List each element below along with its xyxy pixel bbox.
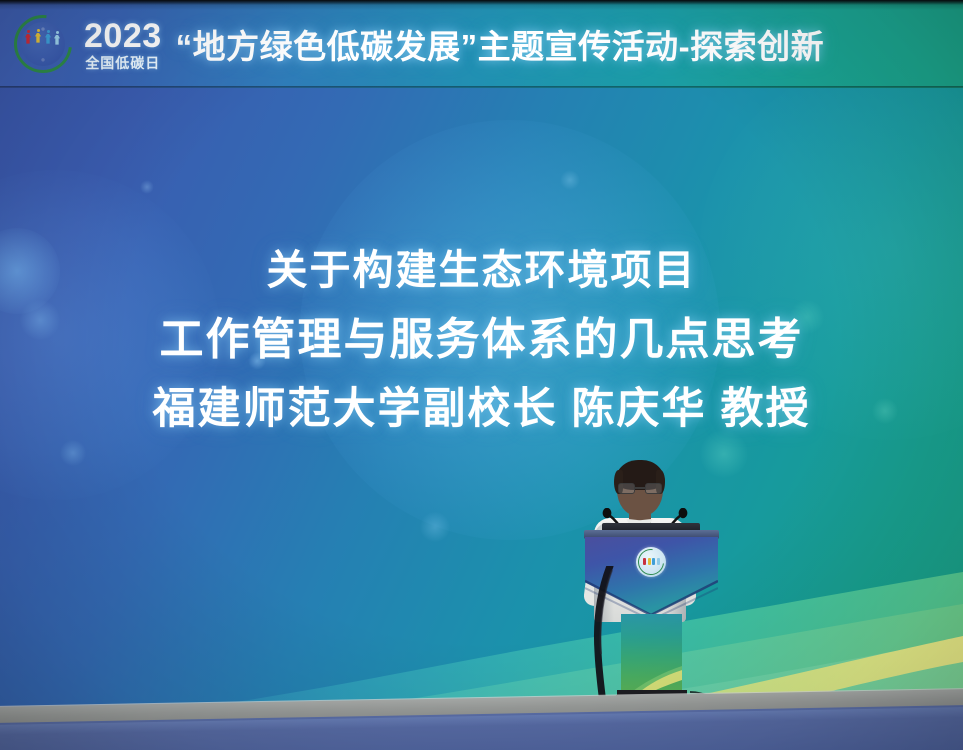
slide-title-line-1: 关于构建生态环境项目	[0, 250, 963, 291]
emblem-green-c-ring	[2, 3, 83, 84]
eyeglasses-icon	[618, 483, 662, 494]
presentation-slide-text: 关于构建生态环境项目 工作管理与服务体系的几点思考 福建师范大学副校长 陈庆华 …	[0, 250, 963, 431]
banner-year-subtitle: 全国低碳日	[85, 56, 160, 70]
conference-stage-scene: 2023 全国低碳日 “地方绿色低碳发展”主题宣传活动-探索创新 关于构建生态环…	[0, 0, 963, 750]
banner-bottom-shadow	[0, 86, 963, 88]
banner-year-block: 2023 全国低碳日	[84, 19, 162, 70]
event-banner: 2023 全国低碳日 “地方绿色低碳发展”主题宣传活动-探索创新	[0, 0, 963, 88]
national-low-carbon-day-emblem-icon	[12, 13, 74, 75]
banner-title: “地方绿色低碳发展”主题宣传活动-探索创新	[176, 20, 825, 68]
eyeglass-lens-left	[618, 483, 635, 494]
slide-title-line-2: 工作管理与服务体系的几点思考	[0, 318, 963, 362]
podium-emblem-icon	[636, 547, 666, 577]
slide-speaker-line: 福建师范大学副校长 陈庆华 教授	[0, 388, 963, 431]
eyeglass-lens-right	[645, 483, 662, 494]
eyeglass-bridge	[635, 487, 645, 489]
banner-year: 2023	[84, 19, 162, 53]
photo-top-edge	[0, 0, 963, 5]
